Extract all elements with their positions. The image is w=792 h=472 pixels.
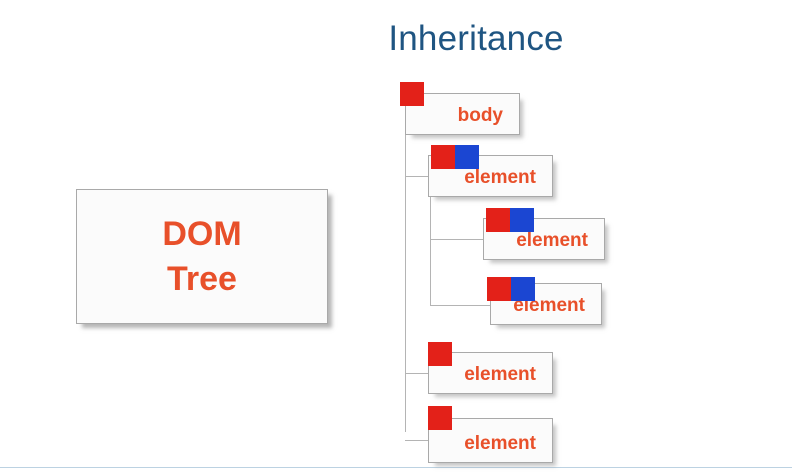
tree-node-label: element	[464, 433, 552, 462]
bottom-divider	[0, 467, 792, 468]
dom-tree-diagram: bodyelementelementelementelementelement	[0, 0, 792, 472]
tree-node-chips-element-3	[487, 277, 535, 301]
tree-node-label: body	[458, 105, 519, 134]
tree-node-label: element	[516, 230, 604, 259]
tree-node-chips-element-4	[428, 342, 452, 366]
tree-connector-trunk-element-1	[430, 197, 431, 305]
tree-connector-branch-element-1	[405, 176, 429, 177]
tree-node-label: element	[464, 167, 552, 196]
tree-node-chips-element-1	[431, 145, 479, 169]
tree-node-label: element	[464, 364, 552, 393]
tree-connector-branch-element-5	[405, 440, 429, 441]
slide-canvas: Inheritance DOM Tree bodyelementelemente…	[0, 0, 792, 472]
style-chip-red-icon	[428, 406, 452, 430]
style-chip-red-icon	[400, 82, 424, 106]
style-chip-red-icon	[486, 208, 510, 232]
style-chip-blue-icon	[510, 208, 534, 232]
style-chip-blue-icon	[455, 145, 479, 169]
tree-node-chips-body	[400, 82, 424, 106]
style-chip-red-icon	[431, 145, 455, 169]
tree-connector-trunk-body	[405, 135, 406, 432]
style-chip-blue-icon	[511, 277, 535, 301]
tree-node-chips-element-2	[486, 208, 534, 232]
tree-connector-branch-element-4	[405, 373, 429, 374]
tree-connector-branch-element-3	[430, 305, 491, 306]
tree-node-chips-element-5	[428, 406, 452, 430]
tree-connector-branch-element-2	[430, 239, 484, 240]
style-chip-red-icon	[428, 342, 452, 366]
style-chip-red-icon	[487, 277, 511, 301]
